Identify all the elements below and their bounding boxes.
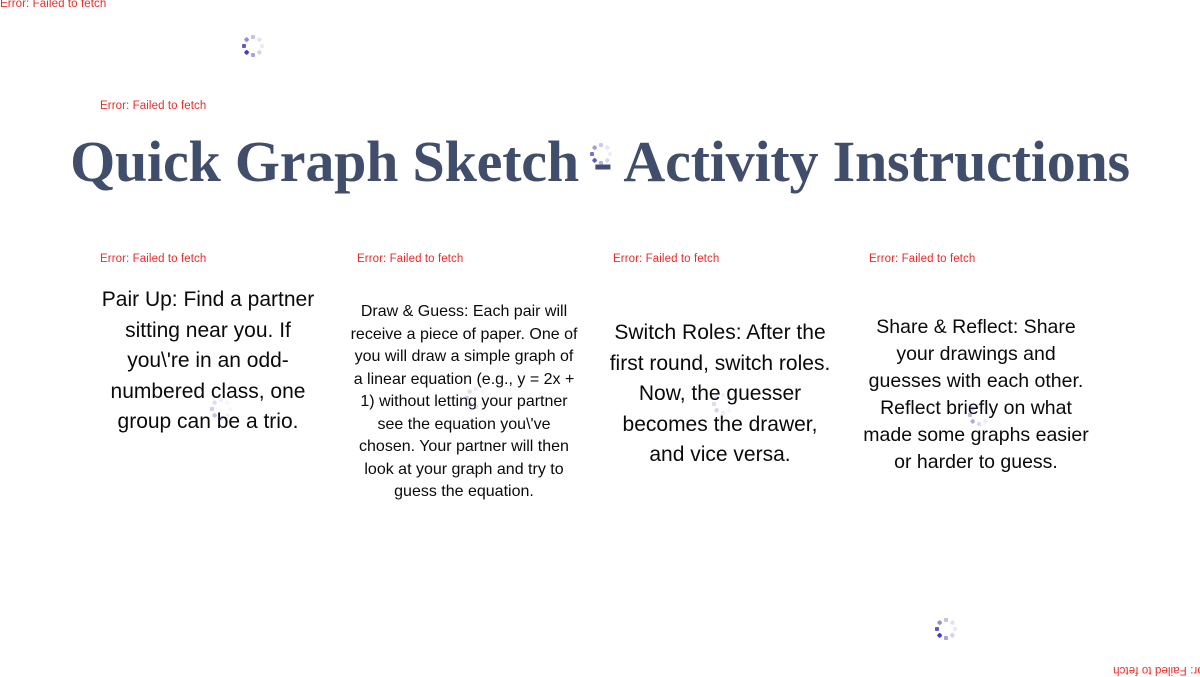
- loading-spinner-icon: [712, 393, 734, 415]
- error-message-column-3: Error: Failed to fetch: [613, 252, 719, 266]
- instruction-step-2-text: Draw & Guess: Each pair will receive a p…: [336, 301, 592, 504]
- error-message-column-1: Error: Failed to fetch: [100, 252, 206, 266]
- loading-spinner-icon: [935, 618, 957, 640]
- loading-spinner-icon: [210, 398, 232, 420]
- loading-spinner-icon: [242, 35, 264, 57]
- instruction-step-1-text: Pair Up: Find a partner sitting near you…: [80, 285, 336, 438]
- loading-spinner-icon: [968, 404, 990, 426]
- loading-spinner-icon: [590, 143, 612, 165]
- instruction-step-1: Pair Up: Find a partner sitting near you…: [80, 285, 336, 438]
- page-root: { "page": { "background_color": "#ffffff…: [0, 0, 1200, 675]
- error-message-column-4: Error: Failed to fetch: [869, 252, 975, 266]
- error-message-hero: Error: Failed to fetch: [100, 99, 206, 113]
- instruction-step-4: Share & Reflect: Share your drawings and…: [848, 285, 1104, 476]
- instruction-step-4-text: Share & Reflect: Share your drawings and…: [848, 314, 1104, 476]
- error-message-column-2: Error: Failed to fetch: [357, 252, 463, 266]
- instruction-columns: Pair Up: Find a partner sitting near you…: [80, 285, 1120, 504]
- error-message-top-left: Error: Failed to fetch: [0, 0, 106, 11]
- instruction-step-2: Draw & Guess: Each pair will receive a p…: [336, 285, 592, 504]
- loading-spinner-icon: [465, 387, 487, 409]
- instruction-step-3: Switch Roles: After the first round, swi…: [592, 285, 848, 471]
